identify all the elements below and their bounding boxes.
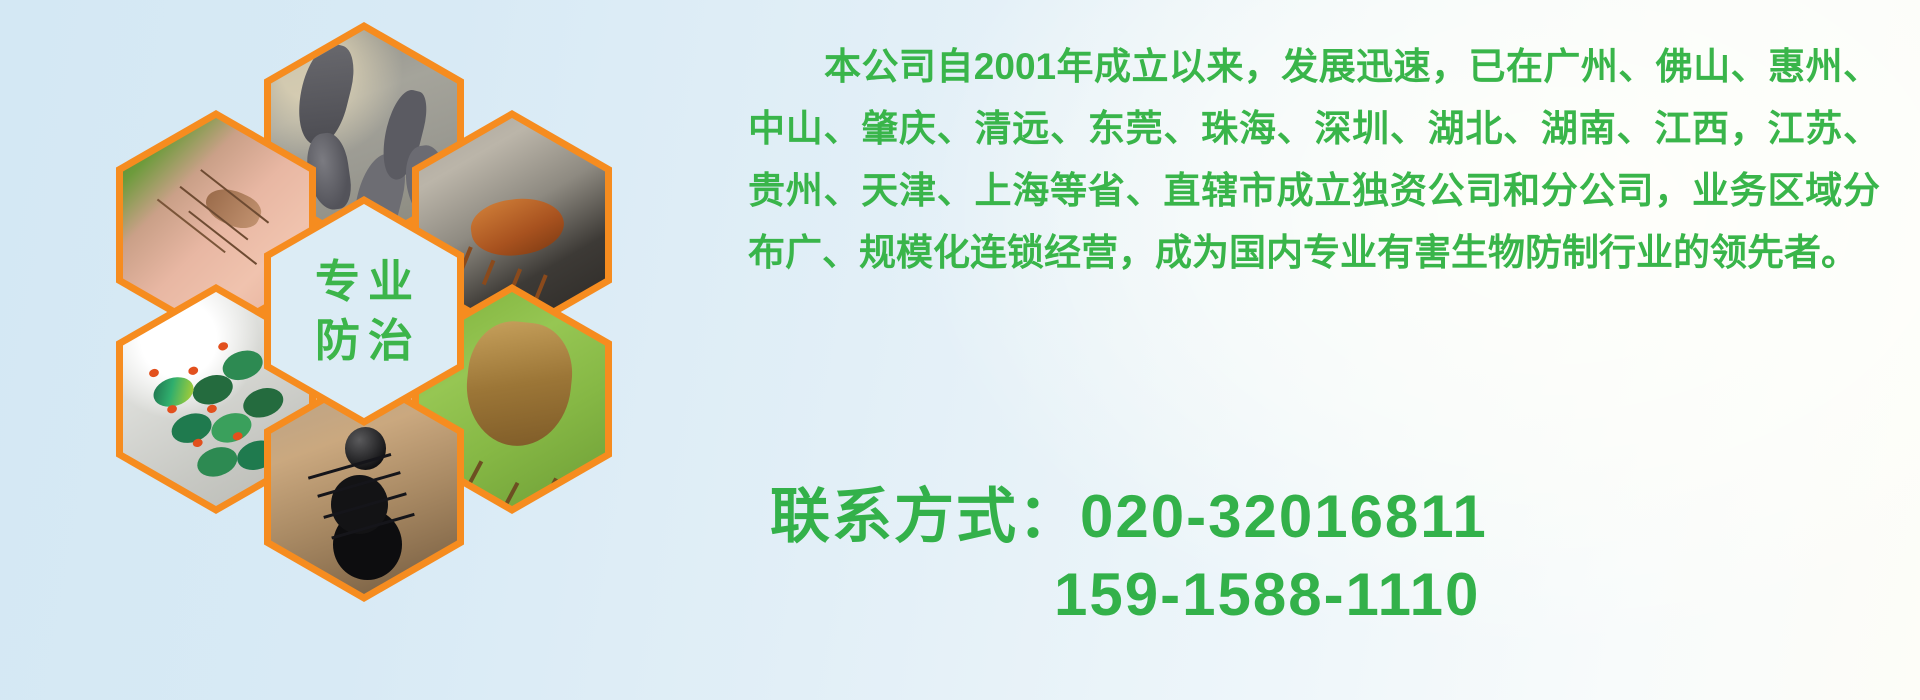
- contact-secondary-line: 159-1588-1110: [770, 556, 1880, 634]
- honeycomb-image-cluster: 专业 防治: [86, 0, 596, 566]
- contact-block: 联系方式：020-32016811 159-1588-1110: [770, 478, 1880, 634]
- contact-label: 联系方式：: [770, 483, 1080, 550]
- promo-banner: 专业 防治 本公司自2001年成立以来，发展迅速，已在广州、佛山、惠州、中山、肇…: [0, 0, 1920, 700]
- slogan-line-2: 防治: [307, 314, 421, 367]
- company-copy-block: 本公司自2001年成立以来，发展迅速，已在广州、佛山、惠州、中山、肇庆、清远、东…: [748, 36, 1880, 284]
- company-description-paragraph: 本公司自2001年成立以来，发展迅速，已在广州、佛山、惠州、中山、肇庆、清远、东…: [748, 36, 1880, 284]
- contact-phone-secondary[interactable]: 159-1588-1110: [1054, 561, 1480, 628]
- slogan-line-1: 专业: [307, 255, 421, 308]
- contact-primary-line: 联系方式：020-32016811: [770, 478, 1880, 556]
- hex-inner-slogan: 专业 防治: [271, 204, 457, 418]
- contact-phone-primary[interactable]: 020-32016811: [1080, 483, 1488, 550]
